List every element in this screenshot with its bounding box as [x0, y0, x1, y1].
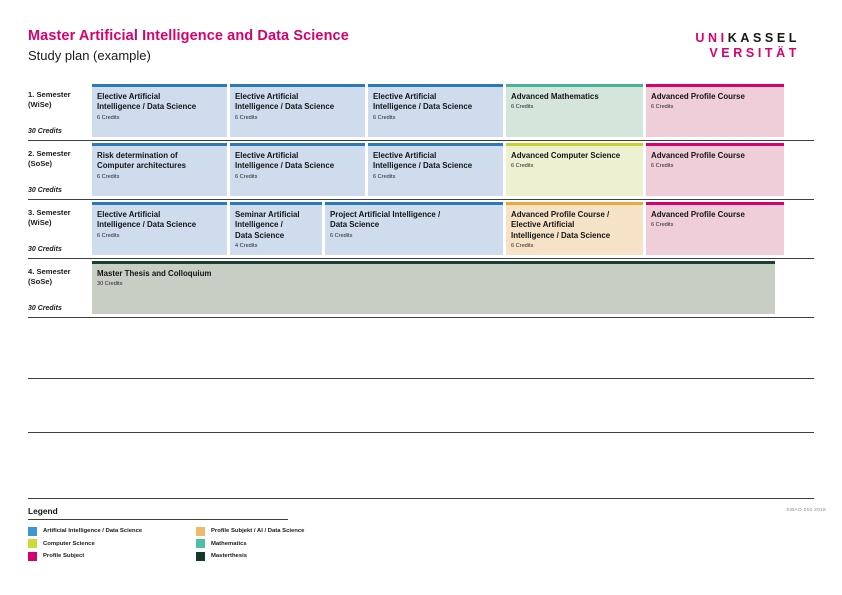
semester-row: 1. Semester (WiSe)30 CreditsElective Art…: [28, 82, 814, 141]
module-card[interactable]: Risk determination of Computer architect…: [92, 143, 227, 196]
separator-rule-3: [28, 498, 814, 499]
module-card-list: Risk determination of Computer architect…: [92, 141, 814, 199]
legend-label: Masterthesis: [211, 553, 247, 559]
module-credits: 6 Credits: [511, 103, 638, 111]
semester-label: 1. Semester (WiSe)30 Credits: [28, 82, 92, 140]
legend-color-swatch-icon: [196, 527, 205, 536]
module-card-list: Elective Artificial Intelligence / Data …: [92, 200, 814, 258]
semester-name: 4. Semester (SoSe): [28, 267, 92, 286]
logo-uni-text: UNI: [695, 31, 727, 45]
semester-label: 4. Semester (SoSe)30 Credits: [28, 259, 92, 317]
legend-color-swatch-icon: [196, 539, 205, 548]
logo-line-one: UNIKASSEL: [695, 31, 800, 46]
semester-label: 3. Semester (WiSe)30 Credits: [28, 200, 92, 258]
legend-item: Profile Subject: [28, 550, 196, 563]
module-title: Advanced Profile Course: [651, 92, 779, 102]
page-header: Master Artificial Intelligence and Data …: [28, 28, 814, 68]
legend-color-swatch-icon: [28, 552, 37, 561]
legend-color-swatch-icon: [28, 539, 37, 548]
module-credits: 6 Credits: [97, 114, 222, 122]
module-credits: 6 Credits: [235, 114, 360, 122]
module-card[interactable]: Elective Artificial Intelligence / Data …: [368, 84, 503, 137]
module-card[interactable]: Master Thesis and Colloquium30 Credits: [92, 261, 775, 314]
legend-column-right: Profile Subjekt / AI / Data ScienceMathe…: [196, 525, 364, 563]
module-credits: 6 Credits: [651, 103, 779, 111]
legend-item: Masterthesis: [196, 550, 364, 563]
module-card[interactable]: Elective Artificial Intelligence / Data …: [92, 202, 227, 255]
document-code: SWAO 010 2018: [786, 508, 826, 513]
legend-item: Artificial Intelligence / Data Science: [28, 525, 196, 538]
semester-row: 3. Semester (WiSe)30 CreditsElective Art…: [28, 200, 814, 259]
semester-credits: 30 Credits: [28, 128, 62, 135]
semester-credits: 30 Credits: [28, 305, 62, 312]
logo-versitaet-text: VERSITÄT: [695, 46, 800, 61]
module-title: Advanced Computer Science: [511, 151, 638, 161]
module-card[interactable]: Elective Artificial Intelligence / Data …: [230, 143, 365, 196]
module-title: Elective Artificial Intelligence / Data …: [97, 210, 222, 231]
module-title: Elective Artificial Intelligence / Data …: [373, 92, 498, 113]
module-card[interactable]: Project Artificial Intelligence / Data S…: [325, 202, 503, 255]
module-card[interactable]: Advanced Profile Course6 Credits: [646, 143, 784, 196]
legend: Legend Artificial Intelligence / Data Sc…: [28, 506, 814, 563]
module-credits: 4 Credits: [235, 242, 317, 250]
module-card[interactable]: Elective Artificial Intelligence / Data …: [368, 143, 503, 196]
semester-credits: 30 Credits: [28, 246, 62, 253]
module-title: Seminar Artificial Intelligence / Data S…: [235, 210, 317, 241]
module-credits: 6 Credits: [330, 232, 498, 240]
module-title: Advanced Mathematics: [511, 92, 638, 102]
legend-column-left: Artificial Intelligence / Data ScienceCo…: [28, 525, 196, 563]
page-title: Master Artificial Intelligence and Data …: [28, 28, 349, 44]
title-block: Master Artificial Intelligence and Data …: [28, 28, 349, 64]
module-credits: 6 Credits: [373, 114, 498, 122]
semester-label: 2. Semester (SoSe)30 Credits: [28, 141, 92, 199]
separator-rule-1: [28, 378, 814, 379]
legend-divider: [28, 519, 288, 520]
module-title: Elective Artificial Intelligence / Data …: [235, 151, 360, 172]
module-card[interactable]: Elective Artificial Intelligence / Data …: [92, 84, 227, 137]
module-title: Advanced Profile Course / Elective Artif…: [511, 210, 638, 241]
university-logo: UNIKASSEL VERSITÄT: [695, 31, 800, 61]
semester-credits: 30 Credits: [28, 187, 62, 194]
semester-name: 1. Semester (WiSe): [28, 90, 92, 109]
module-title: Risk determination of Computer architect…: [97, 151, 222, 172]
module-title: Elective Artificial Intelligence / Data …: [235, 92, 360, 113]
module-card[interactable]: Advanced Profile Course / Elective Artif…: [506, 202, 643, 255]
legend-item: Profile Subjekt / AI / Data Science: [196, 525, 364, 538]
legend-item: Mathematics: [196, 538, 364, 551]
page-subtitle: Study plan (example): [28, 47, 349, 64]
module-title: Master Thesis and Colloquium: [97, 269, 770, 279]
module-credits: 6 Credits: [373, 173, 498, 181]
semester-name: 2. Semester (SoSe): [28, 149, 92, 168]
logo-kassel-text: KASSEL: [728, 31, 800, 45]
module-credits: 6 Credits: [511, 242, 638, 250]
module-title: Elective Artificial Intelligence / Data …: [97, 92, 222, 113]
module-credits: 6 Credits: [651, 221, 779, 229]
module-title: Project Artificial Intelligence / Data S…: [330, 210, 498, 231]
module-credits: 30 Credits: [97, 280, 770, 288]
study-plan-grid: 1. Semester (WiSe)30 CreditsElective Art…: [28, 82, 814, 318]
module-title: Elective Artificial Intelligence / Data …: [373, 151, 498, 172]
module-credits: 6 Credits: [97, 232, 222, 240]
legend-label: Artificial Intelligence / Data Science: [43, 528, 142, 534]
semester-row: 4. Semester (SoSe)30 CreditsMaster Thesi…: [28, 259, 814, 318]
module-card[interactable]: Advanced Computer Science6 Credits: [506, 143, 643, 196]
module-card-list: Elective Artificial Intelligence / Data …: [92, 82, 814, 140]
module-card-list: Master Thesis and Colloquium30 Credits: [92, 259, 814, 317]
module-card[interactable]: Elective Artificial Intelligence / Data …: [230, 84, 365, 137]
legend-item: Computer Science: [28, 538, 196, 551]
semester-name: 3. Semester (WiSe): [28, 208, 92, 227]
legend-title: Legend: [28, 506, 814, 516]
legend-label: Mathematics: [211, 541, 247, 547]
module-card[interactable]: Advanced Mathematics6 Credits: [506, 84, 643, 137]
module-card[interactable]: Advanced Profile Course6 Credits: [646, 84, 784, 137]
separator-rule-2: [28, 432, 814, 433]
legend-label: Profile Subjekt / AI / Data Science: [211, 528, 304, 534]
module-card[interactable]: Advanced Profile Course6 Credits: [646, 202, 784, 255]
module-card[interactable]: Seminar Artificial Intelligence / Data S…: [230, 202, 322, 255]
module-title: Advanced Profile Course: [651, 210, 779, 220]
module-credits: 6 Credits: [97, 173, 222, 181]
module-credits: 6 Credits: [511, 162, 638, 170]
semester-row: 2. Semester (SoSe)30 CreditsRisk determi…: [28, 141, 814, 200]
legend-color-swatch-icon: [28, 527, 37, 536]
legend-color-swatch-icon: [196, 552, 205, 561]
legend-label: Profile Subject: [43, 553, 84, 559]
legend-label: Computer Science: [43, 541, 95, 547]
module-credits: 6 Credits: [651, 162, 779, 170]
module-credits: 6 Credits: [235, 173, 360, 181]
module-title: Advanced Profile Course: [651, 151, 779, 161]
